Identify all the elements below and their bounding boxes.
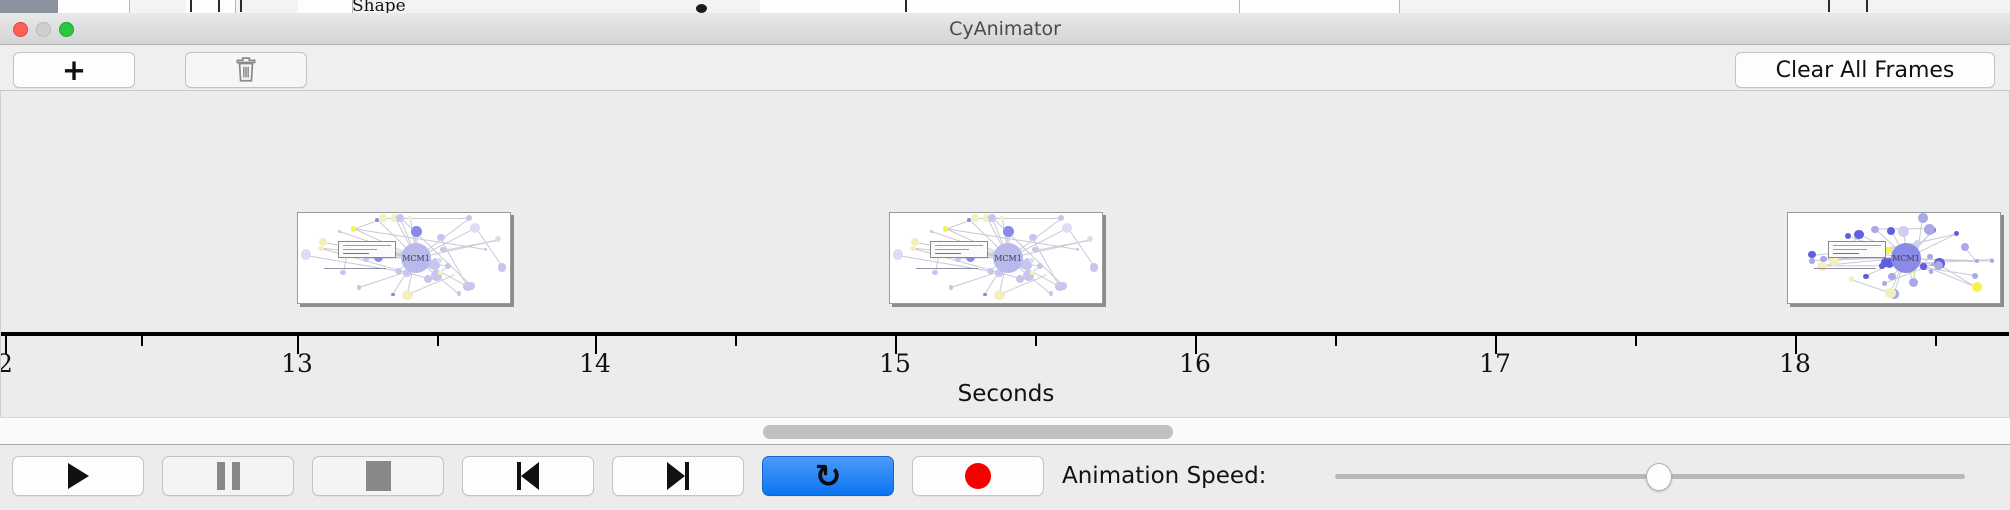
frame-thumbnail[interactable]: MCM1 [297,212,511,304]
network-node [396,214,404,222]
tick-minor [735,336,737,346]
network-node [470,223,480,233]
network-node [1879,263,1884,268]
network-node [1975,259,1979,263]
animation-speed-label: Animation Speed: [1062,456,1266,496]
loop-icon: ↻ [815,460,842,492]
background-tick [190,0,192,12]
tick-minor [437,336,439,346]
network-node [301,249,312,260]
network-edge [353,220,378,230]
window-title: CyAnimator [0,13,2010,45]
network-node [1003,226,1014,237]
network-node [987,268,993,274]
network-node [1854,230,1863,239]
animation-speed-slider-thumb[interactable] [1646,463,1672,491]
network-node [484,248,487,251]
background-tick [240,0,242,12]
network-node [440,247,446,253]
network-node [1918,213,1927,222]
background-tab [1240,0,1400,14]
pause-icon [217,462,240,490]
network-node [988,214,996,222]
tick-label: 15 [879,349,911,378]
tick-label: 2 [0,349,13,378]
network-node [911,238,919,246]
network-annotation-text [916,268,978,269]
background-app-label: Shape [352,0,406,14]
horizontal-scrollbar-track[interactable] [0,417,2010,445]
background-app-strip: Shape [0,0,2010,14]
background-tick [1828,0,1830,12]
network-node [411,226,422,237]
background-blob [696,4,707,13]
tick-minor [1035,336,1037,346]
network-node [910,246,915,251]
add-frame-button[interactable]: + [13,52,135,88]
skip-previous-icon [517,462,539,490]
network-node [1920,263,1926,269]
record-button[interactable] [912,456,1044,496]
network-node [1898,226,1909,237]
network-node [1924,224,1935,235]
network-node [319,238,327,246]
network-hub-node: MCM1 [993,243,1023,273]
frame-thumbnail[interactable]: MCM1 [889,212,1103,304]
loop-button[interactable]: ↻ [762,456,894,496]
network-edge [945,220,970,230]
network-node [983,293,986,296]
network-node [930,230,933,233]
network-node [1929,269,1934,274]
animation-speed-slider[interactable] [1335,474,1965,479]
network-node [893,249,904,260]
background-tab [186,0,236,14]
tick-label: 17 [1479,349,1511,378]
network-node [466,215,472,221]
network-node [1016,275,1024,283]
background-toolbar-block [0,0,58,13]
timeline-axis-line [1,332,2010,336]
tick-minor [1335,336,1337,346]
timeline-panel[interactable]: MCM1MCM1MCM1 2131415161718 Seconds [0,91,2010,417]
network-node [379,214,387,222]
stop-button[interactable] [312,456,444,496]
tick-label: 13 [281,349,313,378]
network-node [1090,263,1099,272]
network-node [451,274,454,277]
network-node [1972,282,1982,292]
playback-bar: ↻ Animation Speed: [0,446,2010,510]
network-annotation-text [324,268,386,269]
network-node [949,285,954,290]
network-node [402,290,413,301]
network-preview: MCM1 [890,213,1102,303]
network-node [994,290,1005,301]
network-node [1062,223,1072,233]
network-node [445,263,451,269]
network-node [340,270,346,276]
tick-label: 14 [579,349,611,378]
network-node [1961,243,1969,251]
network-node [971,214,979,222]
toolbar: + Clear All Frames [0,45,2010,91]
network-node [1817,262,1826,271]
play-icon [68,463,89,489]
network-node [1087,236,1093,242]
network-node [1882,281,1887,286]
horizontal-scrollbar-thumb[interactable] [763,425,1173,439]
stop-icon [366,461,391,491]
axis-title: Seconds [1,381,2010,407]
background-tick [1866,0,1868,12]
background-tab [58,0,130,14]
background-tab [298,0,353,14]
tick-minor [1935,336,1937,346]
network-node [424,275,432,283]
tick-label: 18 [1779,349,1811,378]
skip-next-button[interactable] [612,456,744,496]
network-annotation-text [1814,268,1876,269]
network-node [1059,282,1067,290]
network-node [1845,233,1851,239]
network-node [1809,258,1815,264]
network-node [1037,263,1043,269]
tick-minor [1635,336,1637,346]
network-annotation-box [1828,241,1886,258]
network-node [1954,231,1959,236]
background-tick [905,0,907,12]
background-tick [218,0,220,12]
network-node [1863,274,1869,280]
network-annotation-box [930,241,988,258]
network-node [1058,215,1064,221]
background-tab [760,0,1240,14]
network-node [1076,248,1079,251]
clear-all-frames-button[interactable]: Clear All Frames [1735,52,1995,88]
network-node [495,236,501,242]
network-node [1030,271,1034,275]
network-node [1049,291,1053,295]
network-node [1849,276,1854,281]
plus-icon: + [62,56,86,85]
network-preview: MCM1 [298,213,510,303]
play-button[interactable] [12,456,144,496]
delete-frame-button[interactable] [185,52,307,88]
network-node [467,282,475,290]
network-node [457,291,461,295]
network-node [1990,259,1994,263]
network-node [1032,247,1038,253]
network-node [1043,274,1046,277]
network-hub-node: MCM1 [1891,243,1921,273]
network-node [318,246,323,251]
network-node [1029,234,1037,242]
network-preview: MCM1 [1788,213,2000,303]
record-icon [965,463,991,489]
network-node [1888,273,1896,281]
network-node [437,234,445,242]
network-node [498,263,507,272]
network-node [395,268,401,274]
skip-previous-button[interactable] [462,456,594,496]
network-node [1885,288,1895,298]
tick-minor [141,336,143,346]
frame-thumbnail[interactable]: MCM1 [1787,212,2001,304]
network-node [1927,254,1932,259]
network-node [438,271,442,275]
network-node [1808,251,1816,259]
skip-next-icon [667,462,689,490]
network-node [338,230,341,233]
network-node [357,285,362,290]
network-hub-node: MCM1 [401,243,431,273]
network-annotation-box [338,241,396,258]
network-node [408,216,412,220]
network-node [391,293,394,296]
trash-icon [233,56,259,84]
tick-label: 16 [1179,349,1211,378]
network-node [1000,216,1004,220]
network-node [1909,278,1918,287]
network-node [1972,273,1978,279]
pause-button[interactable] [162,456,294,496]
network-node [932,270,938,276]
title-bar: CyAnimator [0,13,2010,45]
